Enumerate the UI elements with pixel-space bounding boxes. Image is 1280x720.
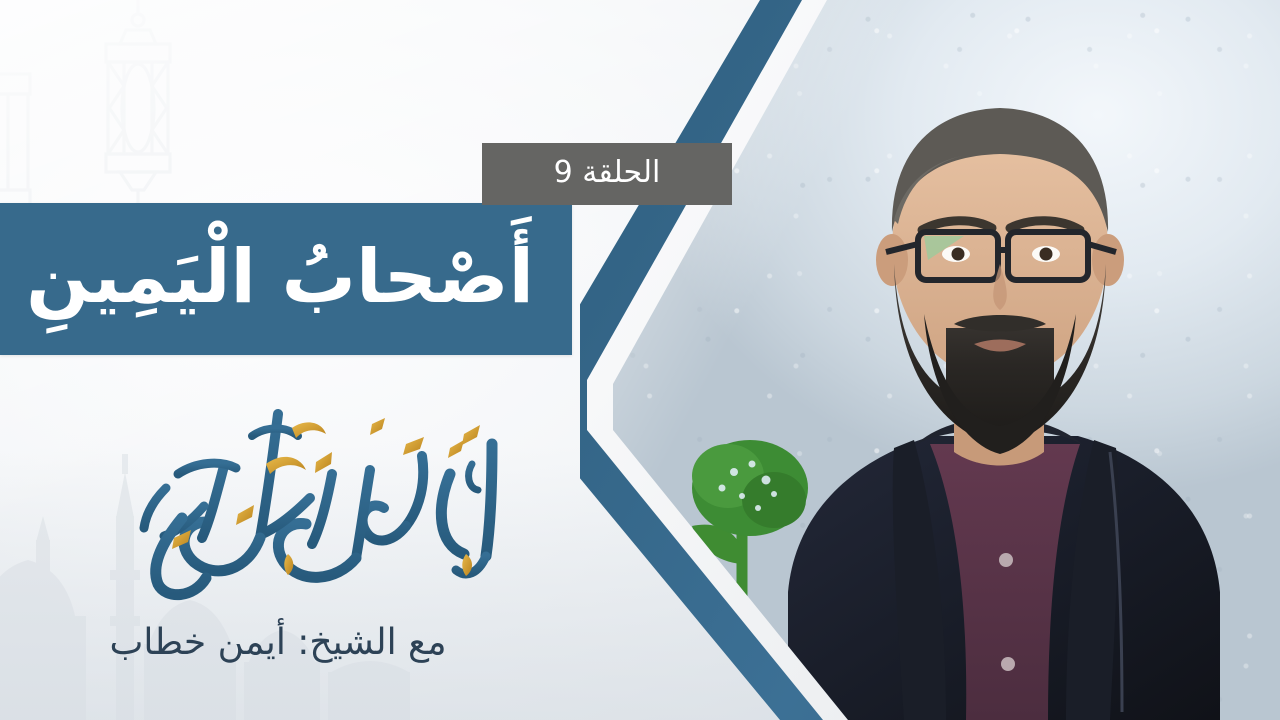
lantern-watermark-icon bbox=[0, 0, 266, 236]
subject-portrait bbox=[718, 52, 1278, 720]
host-photo-panel bbox=[580, 0, 1280, 720]
host-photo bbox=[580, 0, 1280, 720]
title-bar: أَصْحابُ الْيَمِينِ bbox=[0, 203, 572, 355]
program-logo-calligraphy bbox=[120, 378, 532, 610]
episode-badge-label: الحلقة 9 bbox=[554, 158, 661, 191]
presenter-name: مع الشيخ: أيمن خطاب bbox=[110, 623, 447, 663]
presenter-credit: مع الشيخ: أيمن خطاب bbox=[0, 612, 556, 674]
page-title: أَصْحابُ الْيَمِينِ bbox=[0, 239, 572, 317]
title-card: الحلقة 9 أَصْحابُ الْيَمِينِ bbox=[0, 0, 1280, 720]
episode-badge: الحلقة 9 bbox=[482, 143, 732, 205]
